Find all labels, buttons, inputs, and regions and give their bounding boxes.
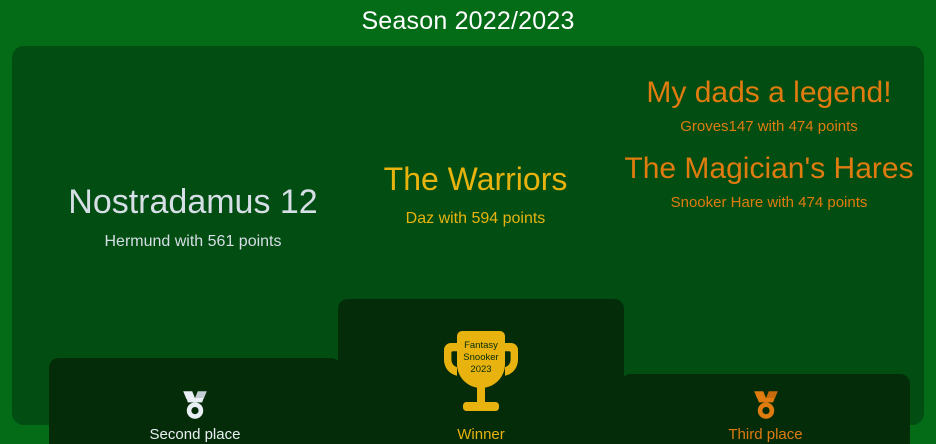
podium-label-first: Winner xyxy=(457,425,505,444)
entrant-second-place: Nostradamus 12 Hermund with 561 points xyxy=(28,183,358,252)
entrant-first-place: The Warriors Daz with 594 points xyxy=(327,162,624,229)
medal-icon xyxy=(180,389,210,421)
entrant-first-team-name: The Warriors xyxy=(327,162,624,198)
podium-block-third: Third place xyxy=(621,374,910,444)
entrant-third-team-name-1: My dads a legend! xyxy=(620,76,918,110)
podium-block-second: Second place xyxy=(49,358,341,444)
entrant-third-team-name-2: The Magician's Hares xyxy=(620,152,918,186)
tie-spacer xyxy=(620,136,918,152)
podium-block-first: Fantasy Snooker 2023 Winner xyxy=(338,299,624,444)
entrant-third-detail-1: Groves147 with 474 points xyxy=(620,118,918,137)
entrant-second-detail: Hermund with 561 points xyxy=(28,232,358,252)
entrant-third-detail-2: Snooker Hare with 474 points xyxy=(620,194,918,213)
entrant-first-detail: Daz with 594 points xyxy=(327,209,624,229)
medal-icon xyxy=(751,389,781,421)
podium-label-second: Second place xyxy=(150,425,241,444)
entrant-third-place: My dads a legend! Groves147 with 474 poi… xyxy=(620,76,918,213)
trophy-text-line-2: Snooker xyxy=(463,352,498,363)
trophy-text-line-1: Fantasy xyxy=(464,340,498,351)
page-title: Season 2022/2023 xyxy=(0,6,936,36)
trophy-text-line-3: 2023 xyxy=(470,364,491,375)
trophy-icon: Fantasy Snooker 2023 xyxy=(443,331,519,421)
entrant-second-team-name: Nostradamus 12 xyxy=(28,183,358,221)
podium-label-third: Third place xyxy=(728,425,802,444)
podium-card: Nostradamus 12 Hermund with 561 points T… xyxy=(12,46,924,425)
leaderboard-podium-page: Season 2022/2023 Nostradamus 12 Hermund … xyxy=(0,0,936,444)
